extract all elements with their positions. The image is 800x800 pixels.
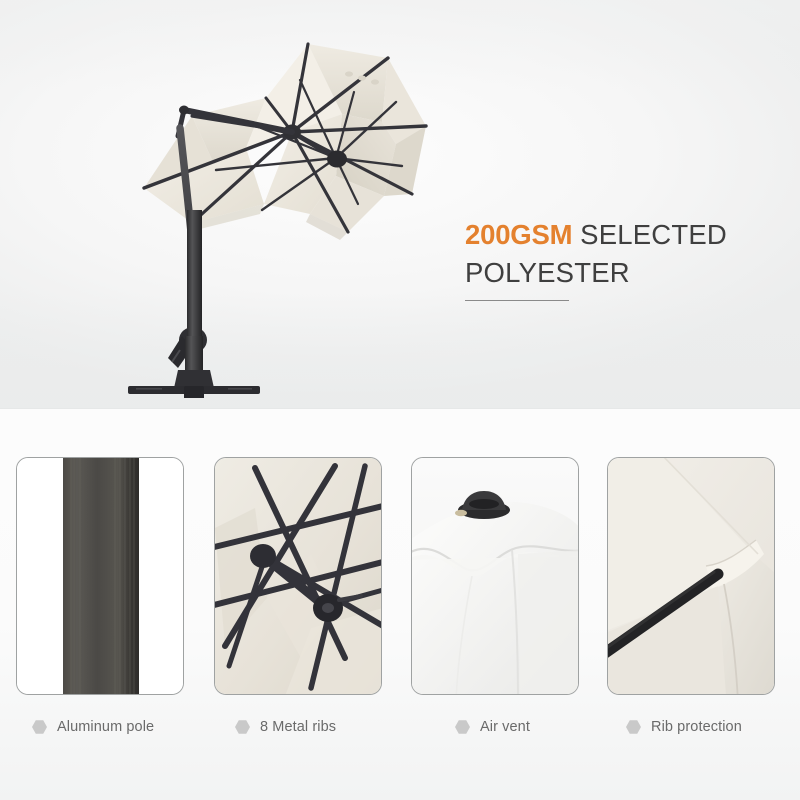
- headline-line-1: 200GSM SELECTED: [465, 216, 770, 254]
- caption-aluminum-pole: Aluminum pole: [32, 711, 154, 743]
- umbrella-product-image: [96, 18, 476, 398]
- caption-label: Air vent: [480, 719, 530, 735]
- caption-label: Rib protection: [651, 719, 742, 735]
- feature-panel-rib-protection[interactable]: [607, 457, 775, 695]
- feature-captions: Aluminum pole 8 Metal ribs Air vent Rib …: [0, 711, 800, 751]
- caption-label: 8 Metal ribs: [260, 719, 336, 735]
- hexagon-bullet-icon: [235, 720, 250, 735]
- headline-underline: [465, 300, 569, 301]
- cross-base: [128, 370, 260, 398]
- headline-line-2: POLYESTER: [465, 254, 770, 292]
- feature-panel-air-vent[interactable]: [411, 457, 579, 695]
- lower-hub: [327, 151, 347, 168]
- feature-panel-aluminum-pole[interactable]: [16, 457, 184, 695]
- hexagon-bullet-icon: [455, 720, 470, 735]
- metal-ribs-closeup-image: [215, 458, 381, 694]
- air-vent-closeup-image: [412, 458, 578, 694]
- pole-mid: [187, 210, 202, 340]
- headline-accent-text: 200GSM: [465, 219, 572, 250]
- hexagon-bullet-icon: [32, 720, 47, 735]
- headline-block: 200GSM SELECTED POLYESTER: [465, 216, 770, 292]
- hexagon-bullet-icon: [626, 720, 641, 735]
- caption-rib-protection: Rib protection: [626, 711, 742, 743]
- aluminum-pole-closeup-image: [17, 458, 183, 694]
- headline-rest-text: SELECTED: [572, 219, 727, 250]
- rib-protection-closeup-image: [608, 458, 774, 694]
- hero-section: 200GSM SELECTED POLYESTER: [0, 0, 800, 408]
- product-feature-page: 200GSM SELECTED POLYESTER: [0, 0, 800, 800]
- caption-metal-ribs: 8 Metal ribs: [235, 711, 336, 743]
- caption-air-vent: Air vent: [455, 711, 530, 743]
- feature-panel-metal-ribs[interactable]: [214, 457, 382, 695]
- features-section: Aluminum pole 8 Metal ribs Air vent Rib …: [0, 409, 800, 800]
- caption-label: Aluminum pole: [57, 719, 154, 735]
- feature-panel-row: [0, 457, 800, 697]
